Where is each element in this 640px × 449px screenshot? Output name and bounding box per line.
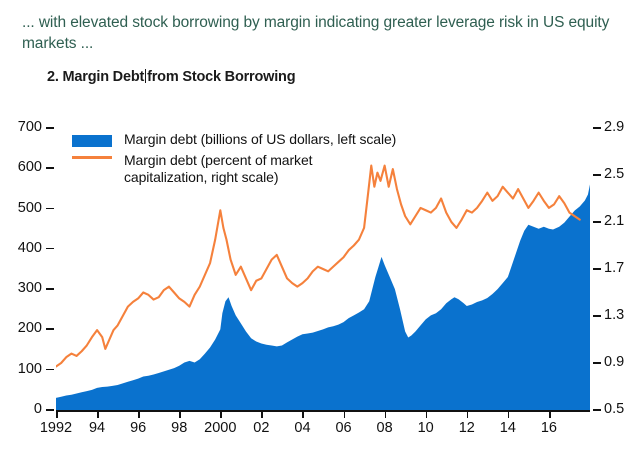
y-right-tick-mark xyxy=(593,409,601,411)
y-left-tick-mark xyxy=(46,409,54,411)
x-axis-tick-mark xyxy=(220,412,222,418)
y-right-tick-label: 1.3 xyxy=(604,307,624,323)
y-right-tick-mark xyxy=(593,268,601,270)
y-right-tick-label: 1.7 xyxy=(604,260,624,276)
y-left-tick-label: 600 xyxy=(4,159,42,175)
y-left-tick-mark xyxy=(46,369,54,371)
plot-area xyxy=(56,128,590,410)
y-left-tick-mark xyxy=(46,328,54,330)
y-left-tick-label: 100 xyxy=(4,361,42,377)
chart-canvas xyxy=(56,128,590,410)
x-axis-tick-mark xyxy=(549,412,551,418)
y-left-tick-mark xyxy=(46,167,54,169)
x-axis-tick-mark xyxy=(508,412,510,418)
y-left-tick-mark xyxy=(46,127,54,129)
chart-page: ... with elevated stock borrowing by mar… xyxy=(0,0,640,449)
x-axis-tick-mark xyxy=(302,412,304,418)
x-axis-tick-mark xyxy=(56,412,58,418)
x-axis-tick-mark xyxy=(138,412,140,418)
chart-title-suffix: from Stock Borrowing xyxy=(147,69,295,85)
y-right-tick-label: 0.5 xyxy=(604,401,624,417)
y-right-tick-label: 2.5 xyxy=(604,166,624,182)
y-left-tick-label: 200 xyxy=(4,320,42,336)
y-left-tick-mark xyxy=(46,208,54,210)
x-axis-tick-mark xyxy=(467,412,469,418)
y-left-tick-label: 500 xyxy=(4,200,42,216)
x-axis-tick-mark xyxy=(385,412,387,418)
x-axis-tick-mark xyxy=(261,412,263,418)
y-left-tick-label: 700 xyxy=(4,119,42,135)
chart-title-prefix: 2. Margin Debt xyxy=(47,69,144,85)
y-left-tick-label: 400 xyxy=(4,240,42,256)
y-left-tick-mark xyxy=(46,248,54,250)
y-right-tick-mark xyxy=(593,362,601,364)
x-axis-tick-label: 16 xyxy=(509,420,589,436)
x-axis-tick-mark xyxy=(344,412,346,418)
y-right-tick-mark xyxy=(593,315,601,317)
y-right-tick-mark xyxy=(593,221,601,223)
chart-title: 2. Margin Debtfrom Stock Borrowing xyxy=(47,69,295,85)
y-right-tick-label: 2.1 xyxy=(604,213,624,229)
x-axis-tick-mark xyxy=(179,412,181,418)
text-cursor xyxy=(145,69,146,83)
y-right-tick-mark xyxy=(593,174,601,176)
x-axis-tick-mark xyxy=(426,412,428,418)
y-right-tick-label: 2.9 xyxy=(604,119,624,135)
margin-debt-area-series xyxy=(56,184,590,410)
y-left-tick-mark xyxy=(46,288,54,290)
page-caption: ... with elevated stock borrowing by mar… xyxy=(22,12,622,54)
x-axis-line xyxy=(56,410,590,412)
y-left-tick-label: 300 xyxy=(4,280,42,296)
y-right-tick-mark xyxy=(593,127,601,129)
x-axis-tick-mark xyxy=(97,412,99,418)
y-left-tick-label: 0 xyxy=(4,401,42,417)
y-right-tick-label: 0.9 xyxy=(604,354,624,370)
